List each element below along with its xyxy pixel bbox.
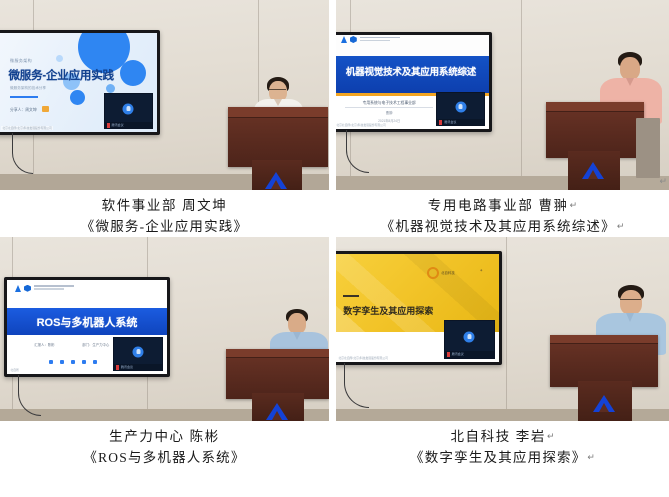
collar bbox=[293, 332, 301, 340]
slide-subtitle: 微服务架构的技术分享 bbox=[10, 86, 46, 91]
slide-department: 专用系统与电子技术工程事业部 bbox=[345, 101, 432, 108]
document-page: 微服务架构 微服务-企业应用实践 微服务架构的技术分享 分享人：周文坤 北京北自… bbox=[0, 0, 669, 497]
pip-status-bar: 腾讯会议 bbox=[105, 122, 152, 128]
podium-logo-icon-2 bbox=[582, 162, 604, 179]
head bbox=[620, 290, 642, 315]
slide-logos bbox=[341, 36, 400, 43]
slide-speaker: 分享人：周文坤 bbox=[10, 108, 37, 113]
podium-3 bbox=[226, 349, 329, 399]
secondary-logo-icon: ◈ bbox=[480, 268, 482, 272]
record-dot-icon bbox=[107, 123, 110, 128]
slide-machine-vision: 机器视觉技术及其应用系统综述 专用系统与电子技术工程事业部 曹翀 2021年8月… bbox=[336, 35, 489, 129]
slide-title: 机器视觉技术及其应用系统综述 bbox=[336, 64, 489, 78]
photo-image-3: ROS与多机器人系统 汇报人：陈彬 部门：生产力中心 北自所 bbox=[0, 237, 329, 421]
slide-rule bbox=[10, 96, 38, 98]
caption-3: 生产力中心 陈彬 《ROS与多机器人系统》 bbox=[0, 421, 329, 468]
podium-2 bbox=[546, 102, 644, 158]
caption-1-line-1: 软件事业部 周文坤 bbox=[0, 196, 329, 217]
collar bbox=[626, 78, 634, 86]
slide-dash-rule bbox=[343, 295, 359, 297]
slide-ros: ROS与多机器人系统 汇报人：陈彬 部门：生产力中心 北自所 bbox=[7, 280, 167, 374]
video-pip-overlay-2: 腾讯会议 bbox=[436, 92, 485, 126]
head bbox=[288, 313, 306, 334]
slide-footer: 北自所 bbox=[9, 368, 19, 372]
caption-4: 北自科技 李岩↵ 《数字孪生及其应用探索》↵ bbox=[336, 421, 669, 468]
photo-cell-3[interactable]: ROS与多机器人系统 汇报人：陈彬 部门：生产力中心 北自所 bbox=[0, 237, 329, 421]
podium-1 bbox=[228, 107, 328, 167]
slide-badge-icon bbox=[42, 106, 49, 112]
podium-top bbox=[550, 335, 658, 344]
tv-display-3: ROS与多机器人系统 汇报人：陈彬 部门：生产力中心 北自所 bbox=[4, 277, 170, 377]
paragraph-mark: ↵ bbox=[616, 221, 625, 231]
podium-logo-icon-3 bbox=[266, 403, 288, 420]
photo-image-1: 微服务架构 微服务-企业应用实践 微服务架构的技术分享 分享人：周文坤 北京北自… bbox=[0, 0, 329, 190]
caption-2-line-1: 专用电路事业部 曹翀↵ bbox=[336, 196, 669, 217]
tv-screen-3: ROS与多机器人系统 汇报人：陈彬 部门：生产力中心 北自所 bbox=[7, 280, 167, 374]
video-pip-overlay-4: 腾讯会议 bbox=[444, 320, 495, 359]
logo-wordmark bbox=[34, 285, 74, 291]
podium-top bbox=[226, 349, 329, 358]
pip-status-bar: 腾讯会议 bbox=[114, 364, 162, 370]
slide-footer: 北京北自所(北京)科技发展股份有限公司 bbox=[336, 123, 387, 127]
column-gap bbox=[329, 237, 336, 421]
tv-display-4: 北自科技 ◈ 数字孪生及其应用探索 专题汇报 北京北自所(北京)科技发展股份有限… bbox=[336, 251, 502, 365]
ring-logo-icon bbox=[427, 267, 439, 279]
caption-2-line-2: 《机器视觉技术及其应用系统综述》↵ bbox=[336, 217, 669, 238]
tv-screen-4: 北自科技 ◈ 数字孪生及其应用探索 专题汇报 北京北自所(北京)科技发展股份有限… bbox=[336, 254, 499, 362]
caption-3-line-2: 《ROS与多机器人系统》 bbox=[0, 448, 329, 469]
slide-microservice: 微服务架构 微服务-企业应用实践 微服务架构的技术分享 分享人：周文坤 北京北自… bbox=[0, 33, 157, 132]
pip-status-bar: 腾讯会议 bbox=[445, 351, 494, 358]
pip-label: 腾讯会议 bbox=[121, 365, 133, 369]
head bbox=[620, 57, 640, 80]
slide-meta-left: 汇报人：陈彬 bbox=[34, 342, 54, 347]
hex-logo-icon bbox=[350, 36, 357, 43]
slide-footer: 北京北自所(北京)科技发展股份有限公司 bbox=[1, 126, 52, 130]
slide-title: 微服务-企业应用实践 bbox=[8, 67, 113, 83]
paragraph-mark: ↵ bbox=[569, 200, 578, 210]
triangle-logo-icon bbox=[341, 36, 347, 43]
caption-3-line-1: 生产力中心 陈彬 bbox=[0, 427, 329, 448]
slide-title: ROS与多机器人系统 bbox=[7, 314, 167, 330]
triangle-logo-icon bbox=[15, 285, 21, 292]
record-dot-icon bbox=[439, 120, 442, 125]
slide-digital-twin: 北自科技 ◈ 数字孪生及其应用探索 专题汇报 北京北自所(北京)科技发展股份有限… bbox=[336, 254, 499, 362]
video-pip-overlay-1: 腾讯会议 bbox=[104, 93, 153, 129]
glasses-icon bbox=[269, 89, 286, 90]
tv-screen-2: 机器视觉技术及其应用系统综述 专用系统与电子技术工程事业部 曹翀 2021年8月… bbox=[336, 35, 489, 129]
paragraph-mark-row1: ↵ bbox=[659, 176, 667, 187]
slide-date: 2021年8月24日 bbox=[345, 118, 432, 123]
pip-status-bar: 腾讯会议 bbox=[437, 119, 484, 125]
column-gap bbox=[329, 0, 336, 190]
caption-1-line-2: 《微服务-企业应用实践》 bbox=[0, 217, 329, 238]
slide-presenter-name: 曹翀 bbox=[345, 110, 432, 115]
record-dot-icon bbox=[447, 352, 450, 357]
paragraph-mark: ↵ bbox=[546, 431, 555, 441]
collar bbox=[274, 99, 282, 106]
slide-kicker: 微服务架构 bbox=[10, 58, 32, 64]
podium-logo-icon-4 bbox=[593, 395, 615, 412]
caption-row-1: 软件事业部 周文坤 《微服务-企业应用实践》 专用电路事业部 曹翀↵ 《机器视觉… bbox=[0, 190, 669, 237]
caption-4-line-2: 《数字孪生及其应用探索》↵ bbox=[336, 448, 669, 469]
avatar-icon bbox=[133, 346, 144, 357]
logo-wordmark bbox=[360, 37, 400, 43]
podium-logo-icon-1 bbox=[265, 172, 287, 189]
caption-row-2: 生产力中心 陈彬 《ROS与多机器人系统》 北自科技 李岩↵ 《数字孪生及其应用… bbox=[0, 421, 669, 468]
chair bbox=[636, 118, 660, 178]
photo-row-1: 微服务架构 微服务-企业应用实践 微服务架构的技术分享 分享人：周文坤 北京北自… bbox=[0, 0, 669, 190]
avatar-icon bbox=[123, 103, 134, 114]
podium-4 bbox=[550, 335, 658, 387]
podium-top bbox=[546, 102, 644, 112]
caption-2: 专用电路事业部 曹翀↵ 《机器视觉技术及其应用系统综述》↵ bbox=[336, 190, 669, 237]
paragraph-mark: ↵ bbox=[586, 452, 595, 462]
tv-screen-1: 微服务架构 微服务-企业应用实践 微服务架构的技术分享 分享人：周文坤 北京北自… bbox=[0, 33, 157, 132]
hex-logo-icon bbox=[24, 285, 31, 292]
pip-label: 腾讯会议 bbox=[452, 352, 464, 356]
collar bbox=[626, 313, 634, 322]
photo-image-4: 北自科技 ◈ 数字孪生及其应用探索 专题汇报 北京北自所(北京)科技发展股份有限… bbox=[336, 237, 669, 421]
photo-cell-2[interactable]: 机器视觉技术及其应用系统综述 专用系统与电子技术工程事业部 曹翀 2021年8月… bbox=[336, 0, 669, 190]
tv-display-1: 微服务架构 微服务-企业应用实践 微服务架构的技术分享 分享人：周文坤 北京北自… bbox=[0, 30, 160, 135]
video-pip-overlay-3: 腾讯会议 bbox=[113, 337, 163, 371]
slide-footer: 北京北自所(北京)科技发展股份有限公司 bbox=[337, 356, 388, 360]
avatar-icon bbox=[455, 101, 466, 112]
photo-row-2: ROS与多机器人系统 汇报人：陈彬 部门：生产力中心 北自所 bbox=[0, 237, 669, 421]
photo-image-2: 机器视觉技术及其应用系统综述 专用系统与电子技术工程事业部 曹翀 2021年8月… bbox=[336, 0, 669, 190]
glasses-icon bbox=[620, 299, 641, 300]
brand-name: 北自科技 bbox=[441, 270, 455, 275]
pip-label: 腾讯会议 bbox=[444, 120, 456, 124]
photo-cell-1[interactable]: 微服务架构 微服务-企业应用实践 微服务架构的技术分享 分享人：周文坤 北京北自… bbox=[0, 0, 329, 190]
slide-header bbox=[336, 35, 489, 57]
tv-display-2: 机器视觉技术及其应用系统综述 专用系统与电子技术工程事业部 曹翀 2021年8月… bbox=[336, 32, 492, 132]
slide-brand-logo: 北自科技 bbox=[427, 267, 455, 279]
slide-title: 数字孪生及其应用探索 bbox=[343, 304, 433, 317]
record-dot-icon bbox=[116, 365, 119, 370]
photo-cell-4[interactable]: 北自科技 ◈ 数字孪生及其应用探索 专题汇报 北京北自所(北京)科技发展股份有限… bbox=[336, 237, 669, 421]
podium-top bbox=[228, 107, 328, 118]
avatar-icon bbox=[464, 331, 475, 342]
slide-icon-strip bbox=[49, 360, 97, 364]
pip-label: 腾讯会议 bbox=[112, 123, 124, 127]
caption-4-line-1: 北自科技 李岩↵ bbox=[336, 427, 669, 448]
slide-meta-right: 部门：生产力中心 bbox=[82, 342, 109, 347]
slide-logos bbox=[15, 285, 74, 292]
caption-1: 软件事业部 周文坤 《微服务-企业应用实践》 bbox=[0, 190, 329, 237]
